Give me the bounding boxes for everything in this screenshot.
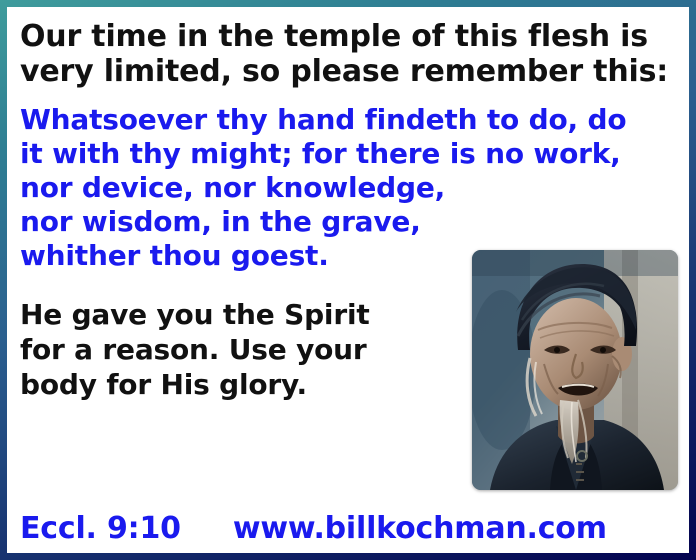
poster-footer: Eccl. 9:10 www.billkochman.com xyxy=(20,511,677,547)
scripture-line-2: it with thy might; for there is no work, xyxy=(20,137,677,171)
portrait-photo xyxy=(472,250,678,490)
poster-canvas: Our time in the temple of this flesh is … xyxy=(7,7,689,553)
scripture-poster: Our time in the temple of this flesh is … xyxy=(0,0,696,560)
intro-paragraph: Our time in the temple of this flesh is … xyxy=(20,19,677,89)
portrait-photo-icon xyxy=(472,250,678,490)
scripture-line-3: nor device, nor knowledge, xyxy=(20,171,677,205)
scripture-reference: Eccl. 9:10 xyxy=(20,511,181,547)
scripture-line-1: Whatsoever thy hand findeth to do, do xyxy=(20,103,677,137)
scripture-line-4: nor wisdom, in the grave, xyxy=(20,205,677,239)
intro-line-1: Our time in the temple of this flesh is xyxy=(20,19,677,54)
website-url[interactable]: www.billkochman.com xyxy=(233,511,607,547)
intro-line-2: very limited, so please remember this: xyxy=(20,54,677,89)
scripture-paragraph: Whatsoever thy hand findeth to do, do it… xyxy=(20,103,677,273)
